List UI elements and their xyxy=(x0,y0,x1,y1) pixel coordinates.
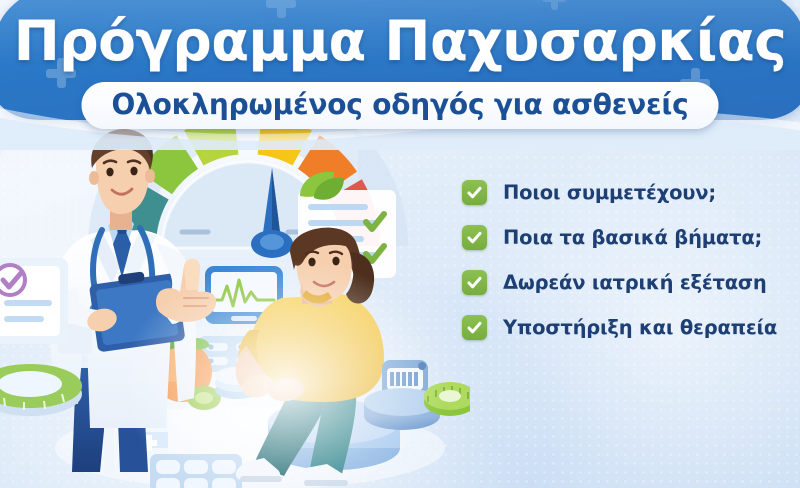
check-icon xyxy=(462,270,487,295)
feature-checklist: Ποιοι συμμετέχουν; Ποια τα βασικά βήματα… xyxy=(462,170,792,350)
header: Πρόγραμμα Παχυσαρκίας Ολοκληρωμένος οδηγ… xyxy=(0,0,800,150)
pill-blister-pack xyxy=(150,454,242,488)
check-icon xyxy=(462,180,487,205)
measuring-tape xyxy=(424,382,470,416)
page-subtitle: Ολοκληρωμένος οδηγός για ασθενείς xyxy=(112,89,689,120)
measuring-tape-left xyxy=(0,364,82,416)
gauge-segment-normal xyxy=(156,152,188,183)
page-title: Πρόγραμμα Παχυσαρκίας xyxy=(0,14,800,69)
checklist-item-label: Υποστήριξη και θεραπεία xyxy=(503,316,777,339)
check-icon xyxy=(462,315,487,340)
subtitle-pill: Ολοκληρωμένος οδηγός για ασθενείς xyxy=(82,82,719,129)
checklist-item[interactable]: Ποια τα βασικά βήματα; xyxy=(462,215,792,260)
checklist-card-left xyxy=(0,258,68,344)
checklist-item[interactable]: Υποστήριξη και θεραπεία xyxy=(462,305,792,350)
checklist-item-label: Ποια τα βασικά βήματα; xyxy=(503,226,762,249)
checklist-item-label: Δωρεάν ιατρική εξέταση xyxy=(503,271,767,294)
checklist-item-label: Ποιοι συμμετέχουν; xyxy=(503,181,716,204)
checklist-item[interactable]: Ποιοι συμμετέχουν; xyxy=(462,170,792,215)
obesity-program-banner: Πρόγραμμα Παχυσαρκίας Ολοκληρωμένος οδηγ… xyxy=(0,0,800,488)
check-icon xyxy=(462,225,487,250)
checklist-item[interactable]: Δωρεάν ιατρική εξέταση xyxy=(462,260,792,305)
illustration-scene xyxy=(0,118,470,488)
